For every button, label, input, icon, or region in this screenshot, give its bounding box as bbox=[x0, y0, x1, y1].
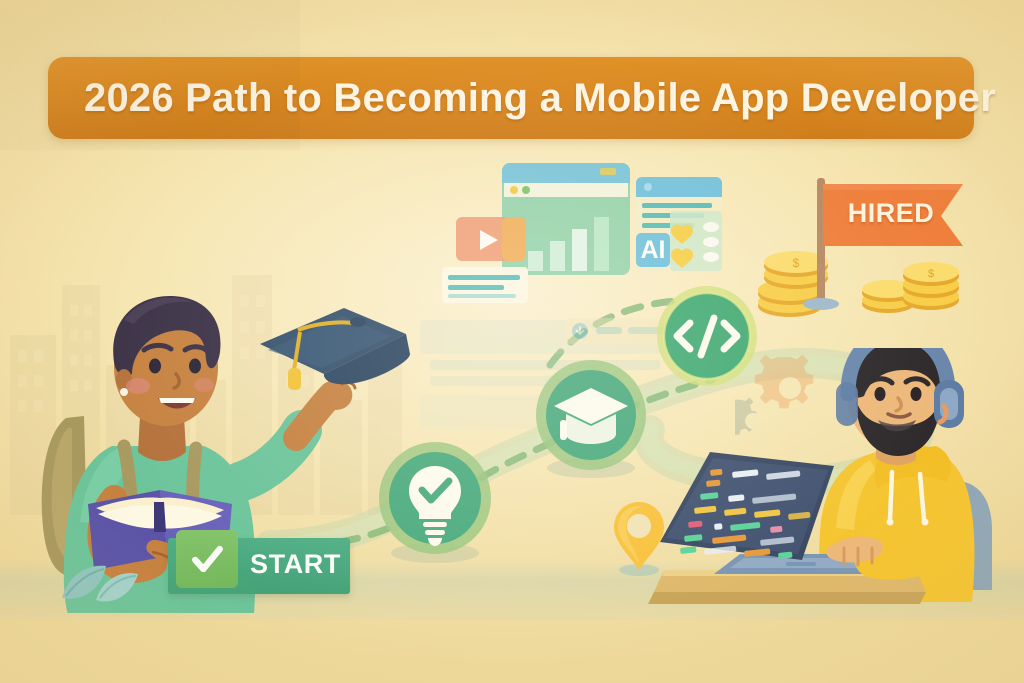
hired-flag-label: HIRED bbox=[839, 198, 943, 229]
start-button[interactable]: START bbox=[168, 538, 350, 594]
start-check-box bbox=[176, 530, 238, 588]
milestone-graduation[interactable] bbox=[530, 358, 652, 480]
graduation-cap-held-icon bbox=[260, 308, 410, 390]
page-title: 2026 Path to Becoming a Mobile App Devel… bbox=[84, 76, 996, 121]
ai-badge-label: AI bbox=[641, 236, 666, 264]
developer-illustration bbox=[648, 348, 1008, 610]
ai-card: AI bbox=[636, 177, 722, 271]
start-button-label: START bbox=[250, 549, 341, 580]
check-icon bbox=[187, 539, 227, 579]
title-banner: 2026 Path to Becoming a Mobile App Devel… bbox=[48, 57, 974, 139]
hired-flag: HIRED bbox=[795, 172, 975, 312]
illustration-canvas: AI $ $ bbox=[0, 0, 1024, 683]
video-card bbox=[456, 217, 526, 261]
text-card bbox=[442, 267, 528, 303]
flag-base bbox=[803, 298, 839, 310]
leaves-icon bbox=[52, 548, 172, 608]
